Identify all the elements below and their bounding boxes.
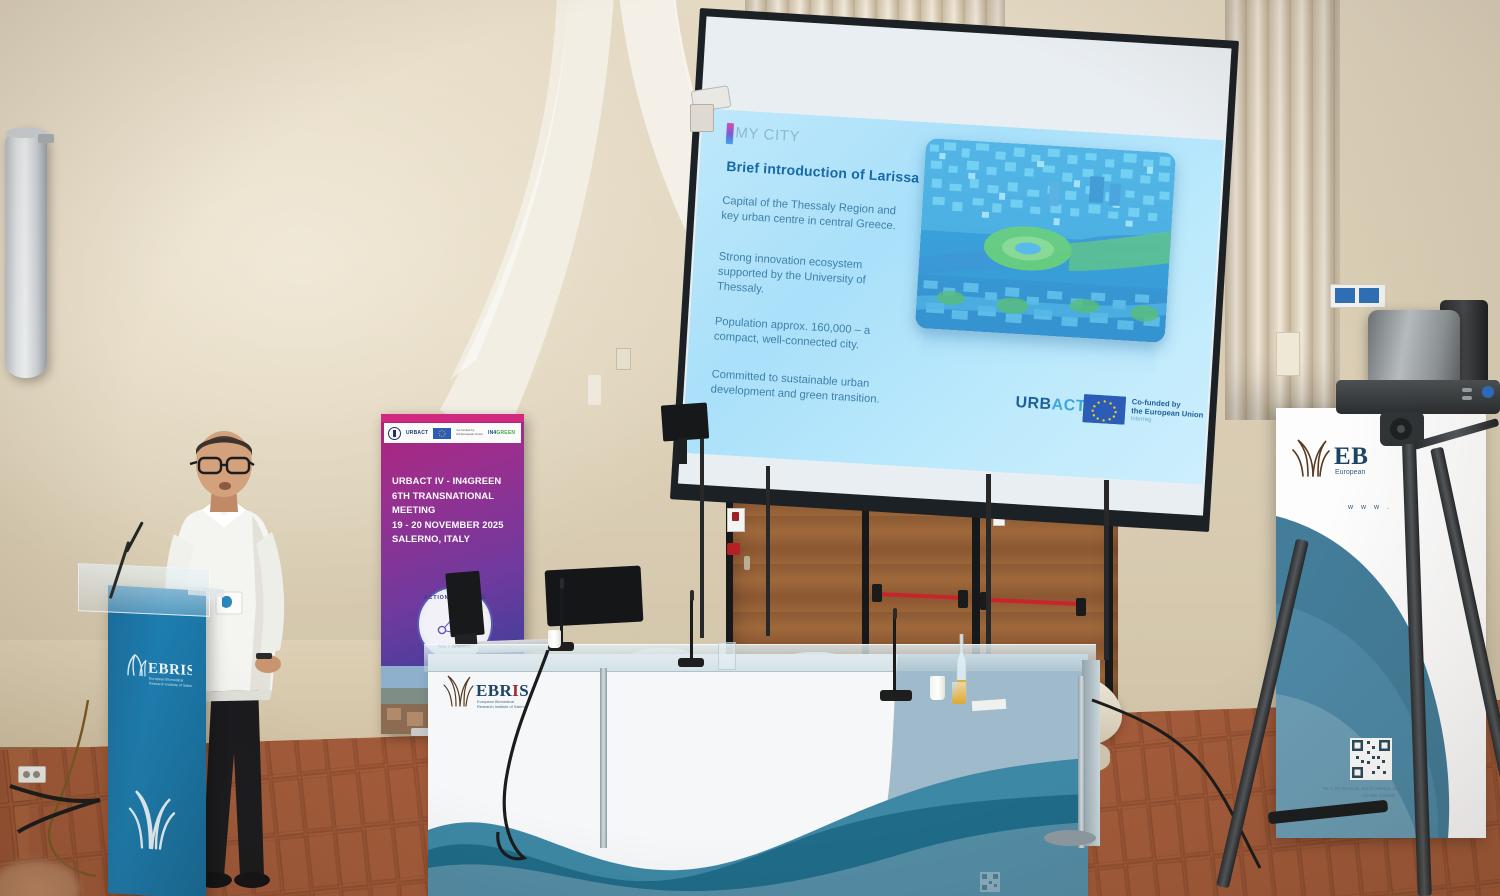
fire-alarm-icon[interactable] (727, 543, 740, 555)
banner-title-line-3: 19 - 20 NOVEMBER 2025 (392, 518, 517, 533)
wall-control-panel[interactable] (1330, 284, 1386, 308)
podium-ebris-logo: EBRIS European Biomedical Research Insti… (122, 649, 192, 695)
ebris-rollup-banner: EB European w w w . Via S. De Renzi 50, (1276, 408, 1486, 838)
microphone-head-2 (690, 590, 694, 601)
microphone-stem-2 (690, 598, 693, 660)
wall-switch[interactable] (616, 348, 631, 370)
wall-conduit (588, 375, 601, 405)
svg-text:EB: EB (1334, 443, 1369, 470)
banner-title-line-2: 6TH TRANSNATIONAL MEETING (392, 489, 517, 518)
eu-funding-text: Co-funded by the European Union Interreg (1130, 397, 1204, 428)
table-card (718, 642, 736, 670)
wall-speaker-bracket (38, 134, 54, 143)
my-city-accent-bar (726, 123, 734, 144)
wall-frame (1276, 332, 1300, 376)
table-cable (470, 650, 670, 896)
panic-mount-2 (958, 590, 968, 608)
slide-content: MY CITY Brief introduction of Larissa Ca… (682, 108, 1224, 484)
podium-tree-icon (120, 780, 182, 854)
confidence-monitor-stand (678, 438, 687, 464)
banner-title-line-4: SALERNO, ITALY (392, 532, 517, 547)
camera-mount-plate (1336, 380, 1500, 414)
table-leg-base (1044, 830, 1096, 846)
microphone-head-1 (560, 578, 564, 589)
svg-text:Research Institute of Salerno: Research Institute of Salerno (149, 682, 192, 689)
microphone-head-3 (893, 608, 897, 619)
banner-urbact-label: URBACT (406, 430, 428, 436)
right-banner-website: w w w . (1348, 504, 1392, 511)
banner-logo-row: URBACT Co-funded bythe European Union IN… (384, 423, 521, 443)
exit-sign-icon (727, 508, 745, 532)
mic-pole-3 (986, 474, 991, 654)
banner-title-block: URBACT IV - IN4GREEN 6TH TRANSNATIONAL M… (392, 474, 517, 547)
paper-cup-2[interactable] (930, 676, 945, 700)
wall-speaker-icon (5, 128, 47, 378)
tripod-knob-icon[interactable] (1390, 418, 1412, 440)
panel-monitor (445, 571, 484, 638)
juice-glass[interactable] (952, 682, 966, 704)
microphone-base-3[interactable] (880, 690, 912, 701)
mic-pole-4 (1104, 480, 1109, 660)
mic-pole-2 (766, 466, 770, 636)
microphone-stem-3 (893, 616, 896, 692)
banner-eu-caption: Co-funded bythe European Union (456, 429, 483, 436)
camera-body (1368, 310, 1460, 388)
banner-title-line-1: URBACT IV - IN4GREEN (392, 474, 517, 489)
door-lock-icon (744, 556, 750, 570)
banner-top-stripe (381, 414, 524, 422)
right-banner-qr-code-icon (1350, 738, 1392, 780)
svg-text:European: European (1335, 469, 1365, 476)
panic-mount-4 (1076, 598, 1086, 616)
urbact-logo-part1: URB (1015, 394, 1052, 413)
mic-pole-tall (700, 438, 704, 638)
table-qr-code-icon (980, 872, 1000, 892)
city-aerial-photo (915, 138, 1176, 343)
panic-mount-1 (872, 584, 882, 602)
banner-in4green-label: IN4GREEN (488, 430, 515, 436)
projection-screen: MY CITY Brief introduction of Larissa Ca… (670, 8, 1239, 532)
eu-flag-icon (1082, 394, 1126, 425)
city-crest-logo-icon (388, 427, 401, 440)
table-leg-2 (1078, 676, 1085, 848)
screen-roller-mount (690, 104, 714, 132)
conference-room-scene: MY CITY Brief introduction of Larissa Ca… (0, 0, 1500, 896)
confidence-monitor (661, 402, 709, 441)
power-socket[interactable] (18, 766, 46, 783)
banner-eu-flag-icon (433, 428, 451, 439)
urbact-logo-part2: ACT (1051, 396, 1086, 415)
paper-cup-1[interactable] (548, 630, 561, 648)
